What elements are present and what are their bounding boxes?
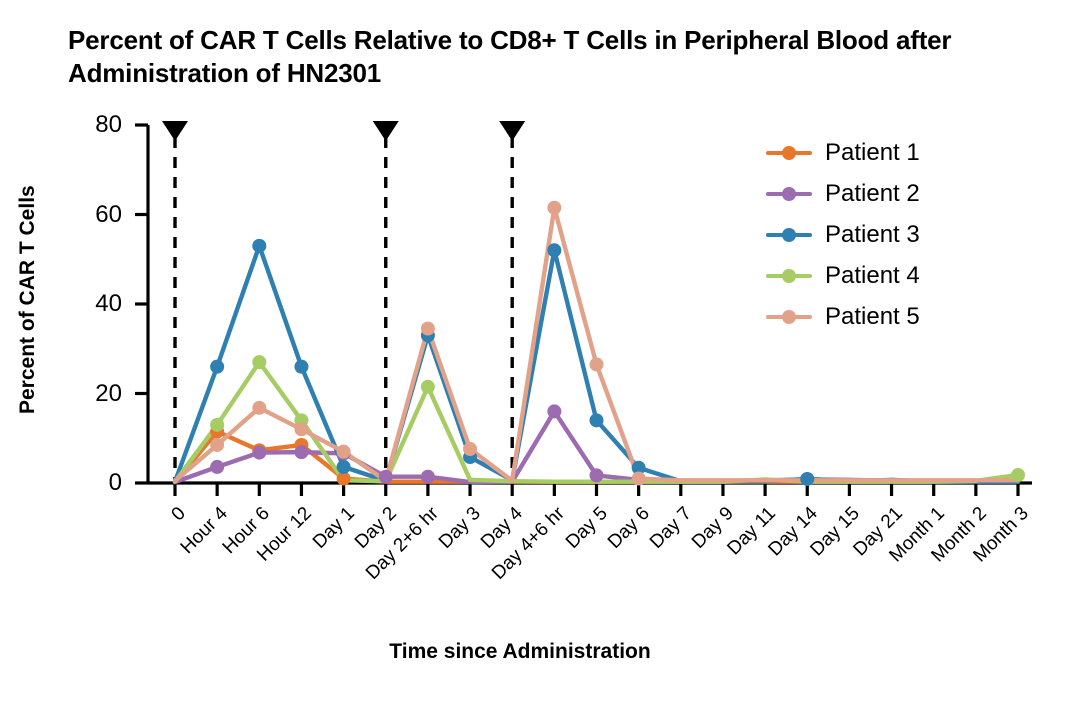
- data-point-patient-5: [337, 445, 351, 459]
- x-axis-title: Time since Administration: [148, 640, 892, 664]
- chart-legend: Patient 1Patient 2Patient 3Patient 4Pati…: [766, 132, 1066, 337]
- down-triangle-icon: [162, 121, 188, 141]
- legend-swatch-icon: [766, 143, 812, 163]
- data-point-patient-2: [421, 470, 435, 484]
- legend-label: Patient 3: [825, 223, 920, 247]
- data-point-patient-2: [294, 445, 308, 459]
- data-point-patient-5: [294, 422, 308, 436]
- legend-label: Patient 1: [825, 141, 920, 165]
- chart-figure: Percent of CAR T Cells Relative to CD8+ …: [0, 0, 1080, 711]
- data-point-patient-4: [421, 380, 435, 394]
- down-triangle-icon: [499, 121, 525, 141]
- data-point-patient-4: [1011, 468, 1025, 482]
- y-tick-label: 60: [62, 201, 122, 229]
- y-axis-title: Percent of CAR T Cells: [10, 120, 46, 480]
- data-point-patient-5: [463, 442, 477, 456]
- legend-item-patient-3[interactable]: Patient 3: [766, 214, 1066, 255]
- data-point-patient-2: [379, 470, 393, 484]
- data-point-patient-5: [632, 472, 646, 486]
- data-point-patient-2: [590, 468, 604, 482]
- legend-label: Patient 2: [825, 182, 920, 206]
- legend-label: Patient 4: [825, 264, 920, 288]
- legend-swatch-icon: [766, 184, 812, 204]
- y-tick-label: 20: [62, 380, 122, 408]
- y-tick-label: 80: [62, 111, 122, 139]
- legend-label: Patient 5: [825, 305, 920, 329]
- data-point-patient-5: [210, 438, 224, 452]
- data-point-patient-4: [252, 355, 266, 369]
- data-point-patient-5: [252, 401, 266, 415]
- data-point-patient-4: [210, 418, 224, 432]
- y-tick-label: 0: [62, 469, 122, 497]
- data-point-patient-2: [252, 446, 266, 460]
- legend-swatch-icon: [766, 307, 812, 327]
- data-point-patient-2: [210, 460, 224, 474]
- legend-swatch-icon: [766, 225, 812, 245]
- data-point-patient-5: [547, 201, 561, 215]
- legend-item-patient-5[interactable]: Patient 5: [766, 296, 1066, 337]
- data-point-patient-5: [590, 357, 604, 371]
- data-point-patient-3: [337, 460, 351, 474]
- data-point-patient-3: [210, 360, 224, 374]
- legend-item-patient-1[interactable]: Patient 1: [766, 132, 1066, 173]
- down-triangle-icon: [373, 121, 399, 141]
- legend-item-patient-2[interactable]: Patient 2: [766, 173, 1066, 214]
- y-tick-label: 40: [62, 290, 122, 318]
- data-point-patient-3: [547, 243, 561, 257]
- data-point-patient-3: [252, 239, 266, 253]
- legend-item-patient-4[interactable]: Patient 4: [766, 255, 1066, 296]
- data-point-patient-3: [590, 413, 604, 427]
- data-point-patient-2: [547, 404, 561, 418]
- data-point-patient-3: [800, 472, 814, 486]
- data-point-patient-5: [421, 322, 435, 336]
- data-point-patient-3: [294, 360, 308, 374]
- legend-swatch-icon: [766, 266, 812, 286]
